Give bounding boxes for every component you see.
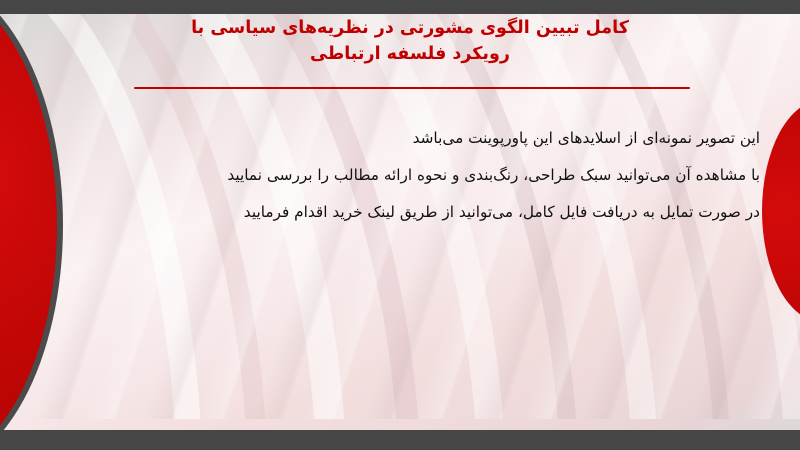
bottom-frame-bar: [0, 430, 800, 450]
slide-title: کامل تبیین الگوی مشورتی در نظریه‌های سیا…: [120, 15, 700, 67]
body-line-3: در صورت تمایل به دریافت فایل کامل، می‌تو…: [60, 194, 760, 231]
title-line-2: رویکرد فلسفه ارتباطی: [120, 41, 700, 67]
body-line-1: این تصویر نمونه‌ای از اسلایدهای این پاور…: [60, 120, 760, 157]
slide-body-text: این تصویر نمونه‌ای از اسلایدهای این پاور…: [60, 120, 760, 231]
presentation-slide: کامل تبیین الگوی مشورتی در نظریه‌های سیا…: [0, 0, 800, 450]
slide-content: کامل تبیین الگوی مشورتی در نظریه‌های سیا…: [0, 13, 800, 432]
body-line-2: با مشاهده آن می‌توانید سبک طراحی، رنگ‌بن…: [60, 157, 760, 194]
title-underline-rule: [134, 87, 690, 89]
title-line-1: کامل تبیین الگوی مشورتی در نظریه‌های سیا…: [120, 15, 700, 41]
top-frame-bar: [0, 0, 800, 14]
